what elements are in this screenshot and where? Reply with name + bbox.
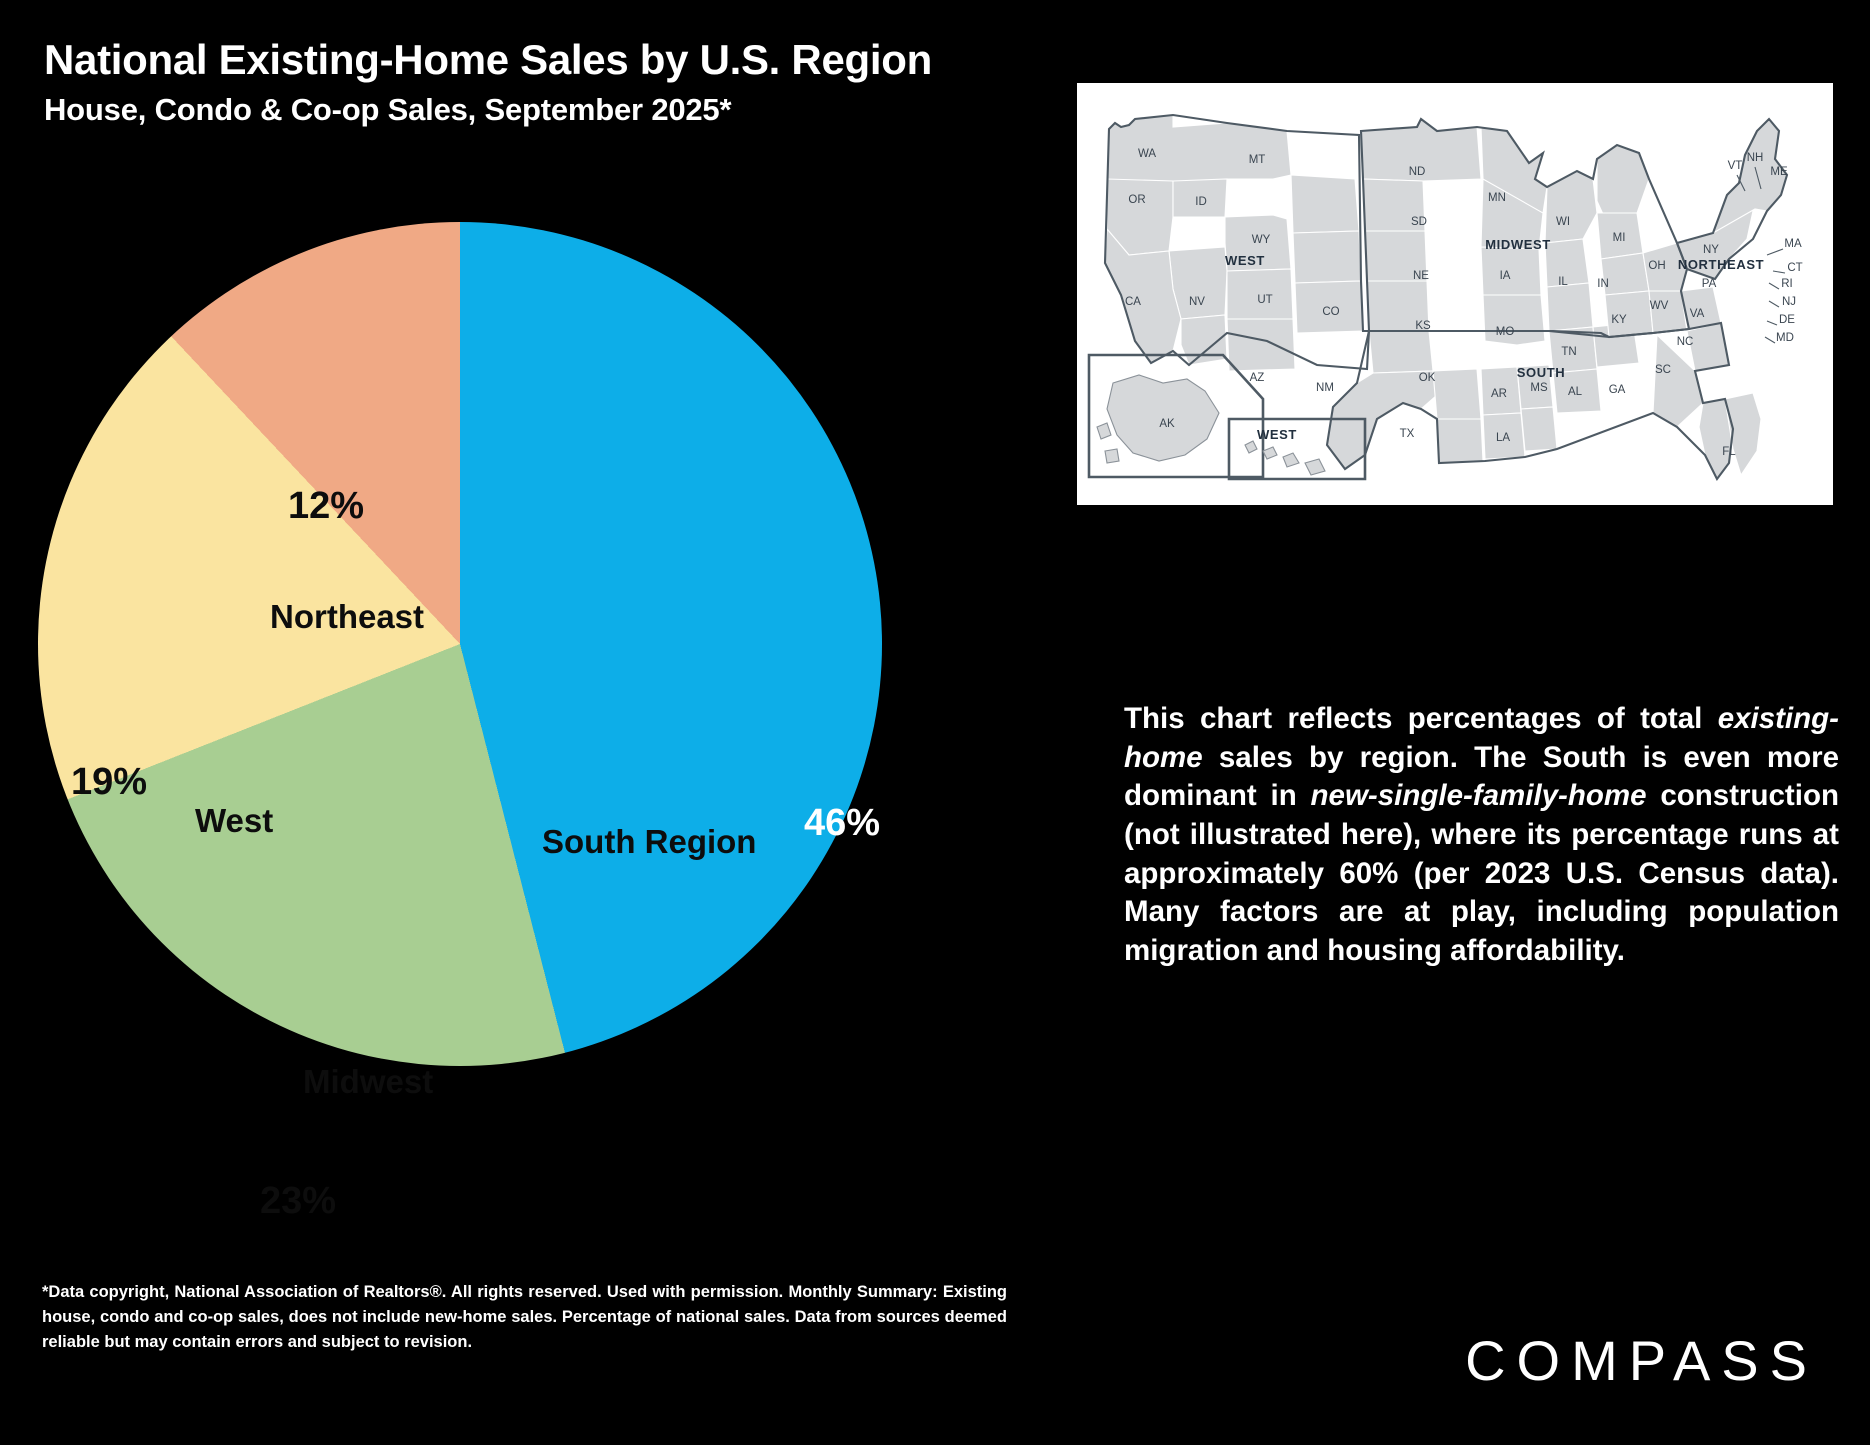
state-label-pa: PA	[1702, 278, 1717, 290]
footnote-disclaimer: *Data copyright, National Association of…	[42, 1280, 1007, 1355]
pie-slices	[38, 222, 882, 1066]
state-label-nc: NC	[1677, 336, 1694, 348]
state-label-wi: WI	[1556, 216, 1570, 228]
state-label-ny: NY	[1703, 244, 1719, 256]
note-part-1: This chart reflects percentages of total	[1124, 702, 1718, 735]
state-label-ok: OK	[1419, 372, 1436, 384]
region-label-midwest: MIDWEST	[1485, 237, 1551, 252]
pie-label-midwest-pct: 23%	[260, 1182, 336, 1220]
page-subtitle: House, Condo & Co-op Sales, September 20…	[44, 92, 932, 128]
region-label-west: WEST	[1225, 253, 1265, 268]
state-label-ne: NE	[1413, 270, 1429, 282]
state-label-mo: MO	[1496, 326, 1515, 338]
state-label-ut: UT	[1257, 294, 1272, 306]
state-label-al: AL	[1568, 386, 1583, 398]
state-label-tx: TX	[1400, 428, 1415, 440]
us-map-svg: WA OR CA NV ID MT WY UT AZ NM CO AK ND S…	[1077, 83, 1833, 505]
state-label-wa: WA	[1138, 148, 1156, 160]
state-label-nh: NH	[1747, 152, 1764, 164]
pie-label-west-name: West	[195, 804, 273, 837]
compass-logo-text: COMPASS	[1465, 1328, 1818, 1393]
state-label-ky: KY	[1611, 314, 1627, 326]
state-label-or: OR	[1128, 194, 1145, 206]
region-label-west-inset: WEST	[1257, 427, 1297, 442]
state-label-ms: MS	[1530, 382, 1548, 394]
state-label-mt: MT	[1249, 154, 1266, 166]
state-label-nv: NV	[1189, 296, 1205, 308]
state-label-me: ME	[1770, 166, 1788, 178]
state-label-nd: ND	[1409, 166, 1426, 178]
state-label-ga: GA	[1609, 384, 1626, 396]
state-label-vt: VT	[1728, 160, 1743, 172]
state-label-sd: SD	[1411, 216, 1427, 228]
state-label-wy: WY	[1252, 234, 1271, 246]
pie-label-midwest-name: Midwest	[303, 1065, 433, 1098]
note-emphasis-2: new-single-family-home	[1311, 779, 1647, 812]
page-title: National Existing-Home Sales by U.S. Reg…	[44, 36, 932, 84]
state-label-ma: MA	[1784, 238, 1802, 250]
state-label-nj: NJ	[1782, 296, 1796, 308]
header: National Existing-Home Sales by U.S. Reg…	[44, 36, 932, 128]
state-label-az: AZ	[1250, 372, 1265, 384]
state-label-il: IL	[1558, 276, 1568, 288]
pie-label-south-pct: 46%	[804, 804, 880, 842]
state-label-ca: CA	[1125, 296, 1141, 308]
state-label-sc: SC	[1655, 364, 1671, 376]
explanatory-note: This chart reflects percentages of total…	[1124, 700, 1839, 970]
state-label-ak: AK	[1159, 418, 1175, 430]
state-label-ks: KS	[1415, 320, 1431, 332]
state-label-nm: NM	[1316, 382, 1334, 394]
us-region-map: WA OR CA NV ID MT WY UT AZ NM CO AK ND S…	[1077, 83, 1833, 505]
state-label-in: IN	[1597, 278, 1609, 290]
state-label-md: MD	[1776, 332, 1794, 344]
state-label-tn: TN	[1561, 346, 1576, 358]
state-label-va: VA	[1690, 308, 1705, 320]
state-label-mi: MI	[1613, 232, 1626, 244]
pie-label-northeast-pct: 12%	[288, 487, 364, 525]
map-inset-shapes	[1097, 375, 1325, 475]
compass-logo: COMPASS	[1465, 1328, 1818, 1393]
state-label-mn: MN	[1488, 192, 1506, 204]
state-label-co: CO	[1322, 306, 1339, 318]
infographic-root: National Existing-Home Sales by U.S. Reg…	[0, 0, 1870, 1445]
state-label-ct: CT	[1787, 262, 1802, 274]
state-label-fl: FL	[1722, 446, 1736, 458]
state-label-oh: OH	[1648, 260, 1665, 272]
pie-label-west-pct: 19%	[71, 763, 147, 801]
state-label-id: ID	[1195, 196, 1207, 208]
pie-label-northeast-name: Northeast	[270, 600, 424, 633]
state-label-ia: IA	[1500, 270, 1511, 282]
state-label-de: DE	[1779, 314, 1795, 326]
region-label-northeast: NORTHEAST	[1678, 257, 1764, 272]
state-label-la: LA	[1496, 432, 1510, 444]
state-label-ar: AR	[1491, 388, 1507, 400]
region-label-south: SOUTH	[1517, 365, 1566, 380]
pie-chart: 12% Northeast 19% West South Region 46% …	[38, 222, 882, 1066]
state-label-ri: RI	[1781, 278, 1793, 290]
state-label-wv: WV	[1650, 300, 1669, 312]
pie-label-south-name: South Region	[542, 825, 756, 858]
